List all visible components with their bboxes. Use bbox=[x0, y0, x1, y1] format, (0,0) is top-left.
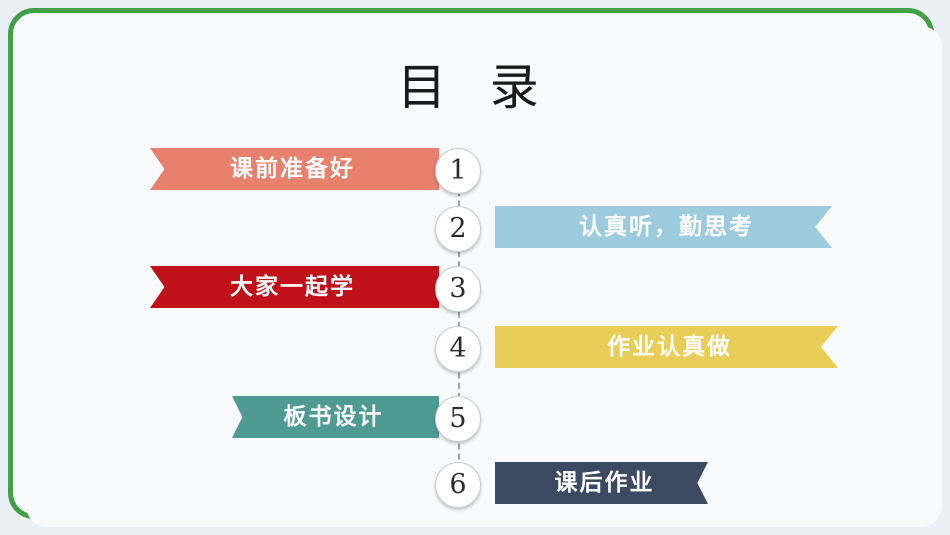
page-title: 目 录 bbox=[0, 48, 950, 119]
toc-banner-1[interactable]: 课前准备好 bbox=[150, 148, 439, 190]
toc-banner-5[interactable]: 板书设计 bbox=[232, 396, 439, 438]
toc-number-1[interactable]: 1 bbox=[435, 148, 481, 194]
toc-banner-4[interactable]: 作业认真做 bbox=[495, 326, 838, 368]
toc-number-3[interactable]: 3 bbox=[435, 266, 481, 312]
toc-banner-3[interactable]: 大家一起学 bbox=[150, 266, 439, 308]
slide-canvas: 目 录 课前准备好 1 认真听，勤思考 2 大家一起学 3 作业认真做 4 板书… bbox=[0, 0, 950, 535]
toc-banner-6[interactable]: 课后作业 bbox=[495, 462, 708, 504]
toc-banner-2[interactable]: 认真听，勤思考 bbox=[495, 206, 832, 248]
toc-number-4[interactable]: 4 bbox=[435, 326, 481, 372]
toc-number-5[interactable]: 5 bbox=[435, 396, 481, 442]
toc-number-2[interactable]: 2 bbox=[435, 206, 481, 252]
toc-number-6[interactable]: 6 bbox=[435, 462, 481, 508]
